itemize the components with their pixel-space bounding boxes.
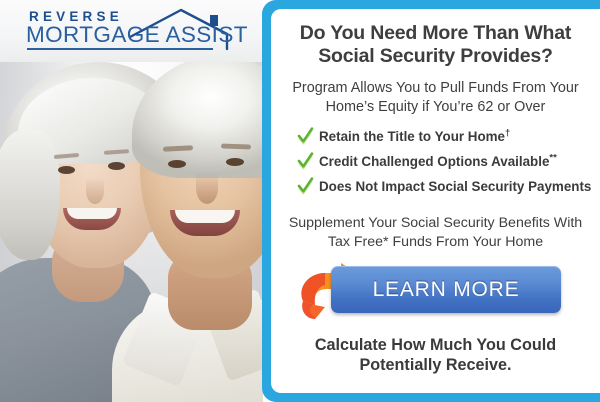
offer-panel-frame: Do You Need More Than What Social Securi… [262,0,600,402]
benefit-text: Credit Challenged Options Available [319,154,549,169]
benefit-text: Retain the Title to Your Home [319,129,505,144]
benefit-text: Does Not Impact Social Security Payments [319,179,591,194]
benefit-footnote-marker: † [505,128,510,139]
brand-logo-main-word: MORTGAGE ASSIST [26,22,248,48]
offer-subheading: Program Allows You to Pull Funds From Yo… [271,68,600,116]
list-item: Does Not Impact Social Security Payments [297,179,600,195]
advertisement-banner: REVERSE MORTGAGE ASSIST Do You Need More… [0,0,600,402]
offer-closing-text: Calculate How Much You Could Potentially… [271,331,600,375]
learn-more-button[interactable]: LEARN MORE [331,266,561,313]
photo-panel: REVERSE MORTGAGE ASSIST [0,0,263,402]
brand-logo-inner: REVERSE MORTGAGE ASSIST [26,7,238,55]
brand-logo-underline [27,48,213,50]
benefit-footnote-marker: ** [549,153,556,164]
page-title: Do You Need More Than What Social Securi… [271,9,600,68]
list-item: Retain the Title to Your Home† [297,129,600,145]
offer-card: Do You Need More Than What Social Securi… [271,9,600,393]
offer-supplement-text: Supplement Your Social Security Benefits… [271,204,600,251]
list-item: Credit Challenged Options Available** [297,154,600,170]
check-icon [297,126,314,145]
cta-row: LEARN MORE [271,257,600,331]
brand-logo[interactable]: REVERSE MORTGAGE ASSIST [0,0,263,62]
benefits-list: Retain the Title to Your Home† Credit Ch… [271,116,600,195]
check-icon [297,176,314,195]
check-icon [297,151,314,170]
